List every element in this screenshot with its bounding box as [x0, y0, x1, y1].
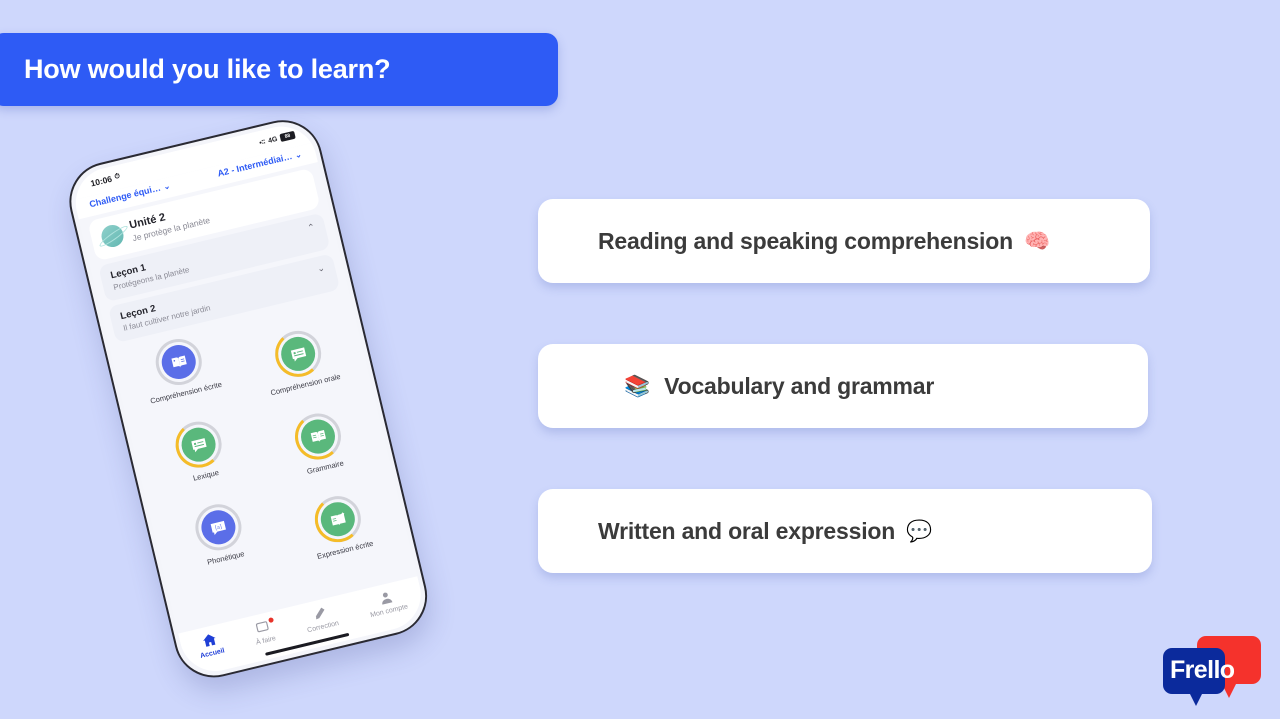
activity-label: Grammaire [306, 458, 345, 476]
ring-track [191, 500, 246, 555]
lesson-text: Leçon 1 Protégeons la planète [110, 252, 191, 292]
activity-label: Phonétique [206, 549, 245, 567]
person-icon [378, 590, 394, 608]
activity-ring [171, 417, 226, 472]
nav-label: Correction [307, 620, 340, 634]
home-indicator [265, 633, 349, 656]
brain-icon: 🧠 [1024, 231, 1050, 252]
activity-grammaire[interactable]: Grammaire [256, 401, 383, 485]
option-card-content: 📚 Vocabulary and grammar [568, 373, 934, 400]
nav-item-mon-compte[interactable]: Mon compte [366, 587, 409, 619]
activity-label: Lexique [192, 468, 220, 483]
activity-grid: Compréhension écrite [117, 299, 404, 602]
option-card-vocabulary-grammar[interactable]: 📚 Vocabulary and grammar [538, 344, 1148, 428]
activity-label: Expression écrite [316, 539, 374, 561]
option-label: Reading and speaking comprehension [598, 228, 1013, 255]
nav-label: Mon compte [370, 603, 409, 619]
task-icon [254, 619, 271, 637]
lesson-text: Leçon 2 Il faut cultiver notre jardin [119, 291, 211, 333]
notification-badge [267, 616, 275, 624]
option-card-content: Written and oral expression 💬 [568, 518, 932, 545]
activity-ring [310, 491, 365, 546]
planet-icon [99, 223, 126, 250]
phone-mockup: 10:06 ⏱ •∶∶ 4G 88 Challenge équi… ⌄ A2 -… [47, 104, 460, 716]
books-icon: 📚 [624, 376, 650, 397]
ring-track [151, 334, 206, 389]
nav-item-accueil[interactable]: Accueil [196, 631, 226, 660]
nav-item-a-faire[interactable]: À faire [251, 619, 276, 647]
activity-ring [290, 409, 345, 464]
chevron-up-icon[interactable]: ⌃ [306, 222, 316, 234]
home-icon [201, 632, 218, 650]
progress-ring [294, 413, 341, 460]
learning-options-list: Reading and speaking comprehension 🧠 📚 V… [538, 199, 1158, 634]
signal-icon: •∶∶ [258, 138, 266, 147]
option-card-written-oral-expression[interactable]: Written and oral expression 💬 [538, 489, 1152, 573]
activity-ring [270, 326, 325, 381]
status-left: 10:06 ⏱ [90, 172, 122, 189]
activity-comprehension-orale[interactable]: Compréhension orale [236, 318, 363, 402]
activity-expression-ecrite[interactable]: Expression écrite [276, 483, 403, 567]
phone-screen: 10:06 ⏱ •∶∶ 4G 88 Challenge équi… ⌄ A2 -… [68, 119, 428, 678]
option-card-reading-speaking[interactable]: Reading and speaking comprehension 🧠 [538, 199, 1150, 283]
chevron-down-icon[interactable]: ⌄ [316, 262, 326, 274]
header-banner: How would you like to learn? [0, 33, 558, 106]
unit-text: Unité 2 Je protège la planète [128, 201, 211, 243]
activity-ring: [a] [191, 500, 246, 555]
frello-logo: Frello [1163, 636, 1263, 706]
network-label: 4G [267, 135, 278, 144]
option-label: Written and oral expression [598, 518, 895, 545]
chevron-down-icon: ⌄ [294, 149, 303, 159]
alarm-icon: ⏱ [114, 173, 121, 182]
page-title: How would you like to learn? [0, 54, 390, 85]
progress-ring [175, 421, 222, 468]
pencil-icon [312, 606, 328, 624]
battery-icon: 88 [279, 131, 295, 142]
phone-frame: 10:06 ⏱ •∶∶ 4G 88 Challenge équi… ⌄ A2 -… [61, 112, 435, 686]
status-right: •∶∶ 4G 88 [258, 131, 295, 147]
logo-text: Frello [1170, 656, 1234, 685]
activity-ring [151, 334, 206, 389]
chevron-down-icon: ⌄ [162, 181, 171, 191]
option-card-content: Reading and speaking comprehension 🧠 [568, 228, 1050, 255]
progress-ring [314, 496, 361, 543]
progress-ring [275, 330, 322, 377]
nav-item-correction[interactable]: Correction [303, 603, 340, 634]
speech-balloon-icon: 💬 [906, 521, 932, 542]
option-label: Vocabulary and grammar [664, 373, 934, 400]
status-time: 10:06 [90, 174, 113, 189]
